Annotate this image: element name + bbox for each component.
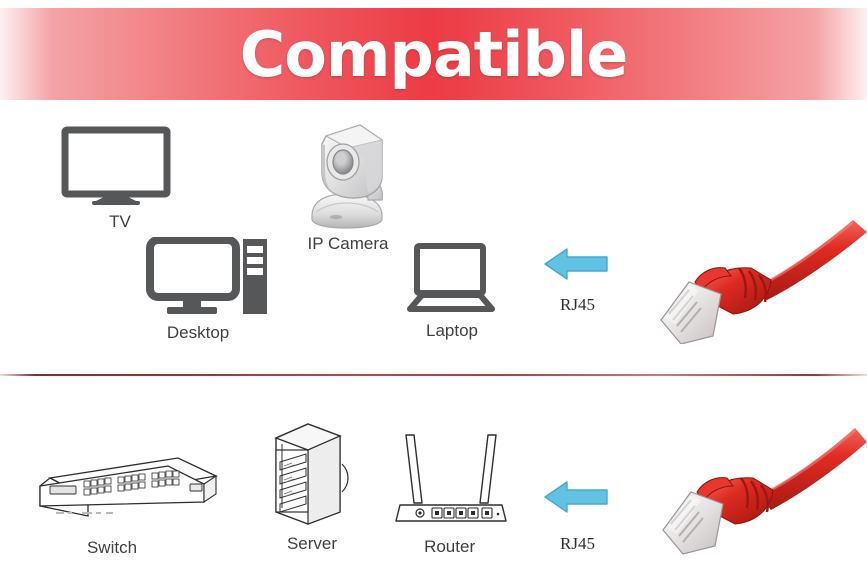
device-label: Laptop xyxy=(426,321,478,341)
device-label: Switch xyxy=(87,538,137,558)
ip-camera-icon xyxy=(298,120,394,237)
device-tv: TV xyxy=(60,126,180,226)
connector-label: RJ45 xyxy=(560,534,595,554)
server-rack-icon xyxy=(262,420,354,535)
network-switch-icon xyxy=(28,450,220,533)
device-server: Server xyxy=(262,420,362,560)
device-label: IP Camera xyxy=(308,234,389,254)
device-router: Router xyxy=(392,425,512,560)
wifi-router-icon xyxy=(392,425,510,538)
connector-rj45-top: RJ45 xyxy=(541,245,617,325)
connector-rj45-bottom: RJ45 xyxy=(541,478,617,558)
device-label: Server xyxy=(287,534,337,554)
device-switch: Switch xyxy=(28,450,228,560)
laptop-icon xyxy=(404,243,498,320)
section-divider xyxy=(0,374,867,376)
arrow-left-icon xyxy=(541,245,611,283)
arrow-left-icon xyxy=(541,478,611,516)
page-title: Compatible xyxy=(0,8,867,100)
device-label: TV xyxy=(109,212,131,232)
device-laptop: Laptop xyxy=(404,243,500,347)
header-banner: Compatible xyxy=(0,8,867,100)
rj45-cable-icon-bottom xyxy=(655,418,867,565)
desktop-icon xyxy=(146,237,270,322)
tv-icon xyxy=(60,126,172,213)
device-desktop: Desktop xyxy=(146,237,270,347)
connector-label: RJ45 xyxy=(560,295,595,315)
device-label: Desktop xyxy=(167,323,229,343)
device-ip-camera: IP Camera xyxy=(298,120,398,250)
device-label: Router xyxy=(424,537,475,557)
compatibility-infographic: Compatible TV Desktop xyxy=(0,0,867,565)
rj45-cable-icon-top xyxy=(655,214,867,344)
